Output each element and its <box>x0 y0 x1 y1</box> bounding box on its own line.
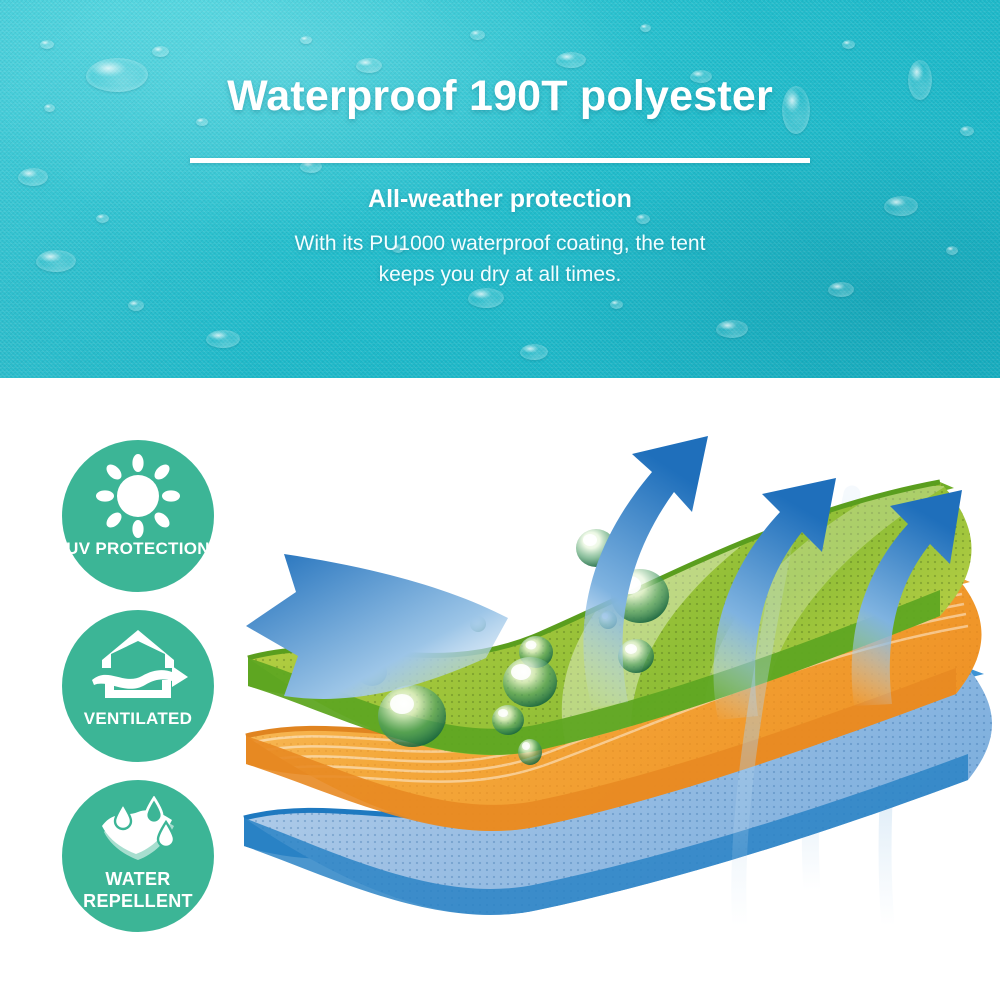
sun-icon <box>62 454 214 538</box>
badge-label-line-1: WATER <box>48 868 228 890</box>
water-bead <box>610 300 623 309</box>
water-bead <box>40 40 54 49</box>
badge-label: VENTILATED <box>48 709 228 729</box>
badge-label: WATER REPELLENT <box>48 868 228 912</box>
water-bead <box>128 300 144 311</box>
three-layer-fabric-diagram <box>240 420 1000 960</box>
badge-label-line-2: REPELLENT <box>48 890 228 912</box>
badge-label: UV PROTECTION <box>48 539 228 559</box>
water-bead <box>556 52 586 68</box>
water-bead <box>842 40 855 49</box>
water-bead <box>300 36 312 44</box>
water-bead <box>716 320 748 338</box>
banner-description: With its PU1000 waterproof coating, the … <box>0 228 1000 290</box>
hero-banner: Waterproof 190T polyester All-weather pr… <box>0 0 1000 378</box>
badge-uv-protection[interactable]: UV PROTECTION <box>62 440 214 592</box>
infographic-page: Waterproof 190T polyester All-weather pr… <box>0 0 1000 1000</box>
banner-description-line-1: With its PU1000 waterproof coating, the … <box>0 228 1000 259</box>
title-divider <box>190 158 810 163</box>
water-bead <box>468 288 504 308</box>
page-title: Waterproof 190T polyester <box>0 72 1000 121</box>
water-bead <box>470 30 485 40</box>
badge-ventilated[interactable]: VENTILATED <box>62 610 214 762</box>
banner-subtitle: All-weather protection <box>0 185 1000 214</box>
banner-description-line-2: keeps you dry at all times. <box>0 259 1000 290</box>
water-bead <box>640 24 651 32</box>
water-bead <box>960 126 974 136</box>
water-bead <box>520 344 548 360</box>
house-airflow-icon <box>62 624 214 708</box>
feature-badge-list: UV PROTECTION VENTILATED <box>62 440 214 950</box>
water-bead <box>152 46 169 57</box>
fabric-droplets-icon <box>62 796 214 866</box>
water-bead <box>356 58 382 73</box>
badge-water-repellent[interactable]: WATER REPELLENT <box>62 780 214 932</box>
water-bead <box>96 214 109 223</box>
water-bead <box>206 330 240 348</box>
water-bead <box>18 168 48 186</box>
water-bead <box>636 214 650 224</box>
